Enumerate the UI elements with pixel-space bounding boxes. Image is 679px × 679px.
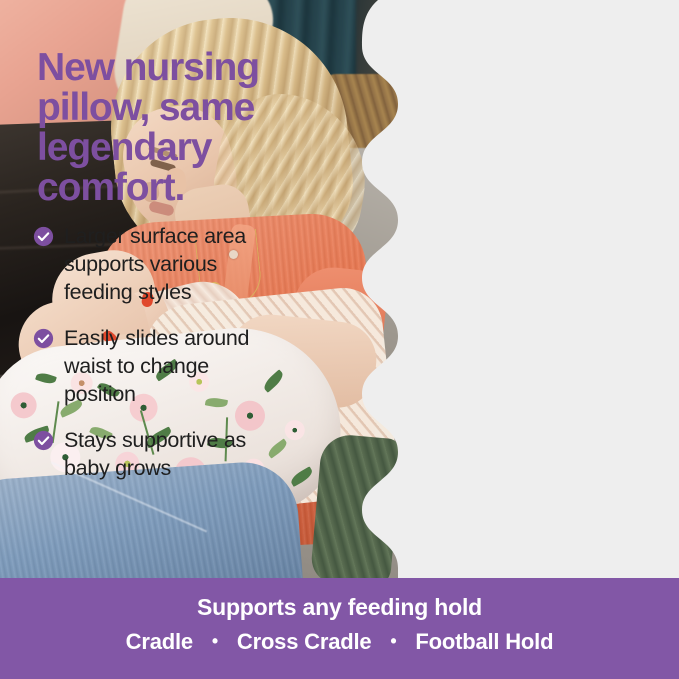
banner-title: Supports any feeding hold bbox=[0, 594, 679, 621]
feeding-hold-banner: Supports any feeding hold Cradle • Cross… bbox=[0, 578, 679, 679]
headline-line-3: legendary bbox=[37, 128, 267, 168]
feature-text: Stays supportive as baby grows bbox=[64, 426, 271, 482]
feature-list: Larger surface area supports various fee… bbox=[33, 222, 271, 500]
hold-football-hold: Football Hold bbox=[415, 629, 553, 654]
page-title: New nursing pillow, same legendary comfo… bbox=[37, 48, 267, 208]
list-item: Stays supportive as baby grows bbox=[33, 426, 271, 482]
product-feature-graphic: New nursing pillow, same legendary comfo… bbox=[0, 0, 679, 679]
headline-line-1: New nursing bbox=[37, 48, 267, 88]
check-circle-icon bbox=[33, 430, 54, 451]
headline-line-4: comfort. bbox=[37, 168, 267, 208]
list-item: Larger surface area supports various fee… bbox=[33, 222, 271, 306]
feature-text: Larger surface area supports various fee… bbox=[64, 222, 271, 306]
feeding-holds-list: Cradle • Cross Cradle • Football Hold bbox=[0, 629, 679, 655]
feature-text: Easily slides around waist to change pos… bbox=[64, 324, 271, 408]
bullet-dot-icon: • bbox=[212, 631, 218, 652]
check-circle-icon bbox=[33, 226, 54, 247]
hold-cradle: Cradle bbox=[126, 629, 193, 654]
wavy-divider bbox=[340, 0, 420, 580]
check-circle-icon bbox=[33, 328, 54, 349]
headline-line-2: pillow, same bbox=[37, 88, 267, 128]
hold-cross-cradle: Cross Cradle bbox=[237, 629, 372, 654]
bullet-dot-icon: • bbox=[390, 631, 396, 652]
list-item: Easily slides around waist to change pos… bbox=[33, 324, 271, 408]
text-panel bbox=[400, 0, 679, 580]
